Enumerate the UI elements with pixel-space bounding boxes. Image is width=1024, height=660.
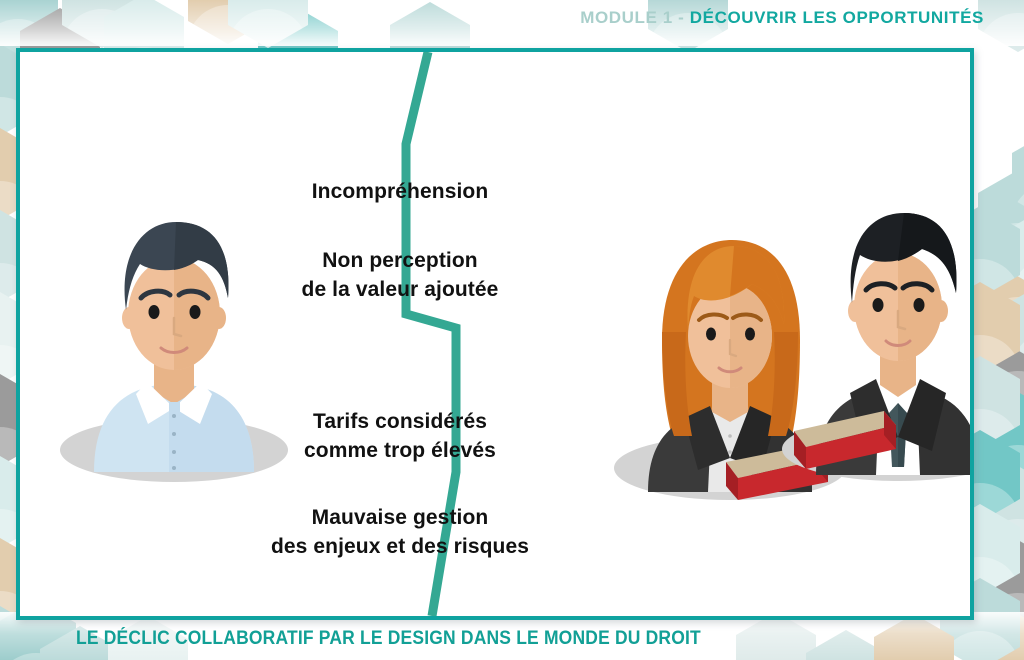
hexagon-decor [978, 244, 1024, 336]
lawyer-man-illustration [780, 197, 974, 482]
footer: LE DÉCLIC COLLABORATIF PAR LE DESIGN DAN… [0, 618, 1024, 660]
hexagon-decor [978, 170, 1024, 262]
footer-tagline: LE DÉCLIC COLLABORATIF PAR LE DESIGN DAN… [76, 628, 701, 650]
hexagon-decor [978, 392, 1024, 484]
hexagon-decor [1012, 278, 1024, 370]
header: MODULE 1 - DÉCOUVRIR LES OPPORTUNITÉS [0, 0, 1024, 36]
content-card: Incompréhension Non perception de la val… [16, 48, 974, 620]
pain-point-mauvaise-gestion: Mauvaise gestion des enjeux et des risqu… [200, 504, 600, 562]
module-title: DÉCOUVRIR LES OPPORTUNITÉS [690, 8, 984, 28]
hexagon-decor [1012, 204, 1024, 296]
hexagon-decor [978, 466, 1024, 558]
hexagon-decor [1012, 130, 1024, 222]
pain-point-non-perception-valeur: Non perception de la valeur ajoutée [200, 247, 600, 305]
pain-point-incomprehension: Incompréhension [200, 178, 600, 207]
figure-lawyer-man [780, 197, 974, 482]
hexagon-decor [978, 318, 1024, 410]
module-prefix: MODULE 1 - [580, 8, 690, 28]
pain-point-tarifs-eleves: Tarifs considérés comme trop élevés [200, 408, 600, 466]
